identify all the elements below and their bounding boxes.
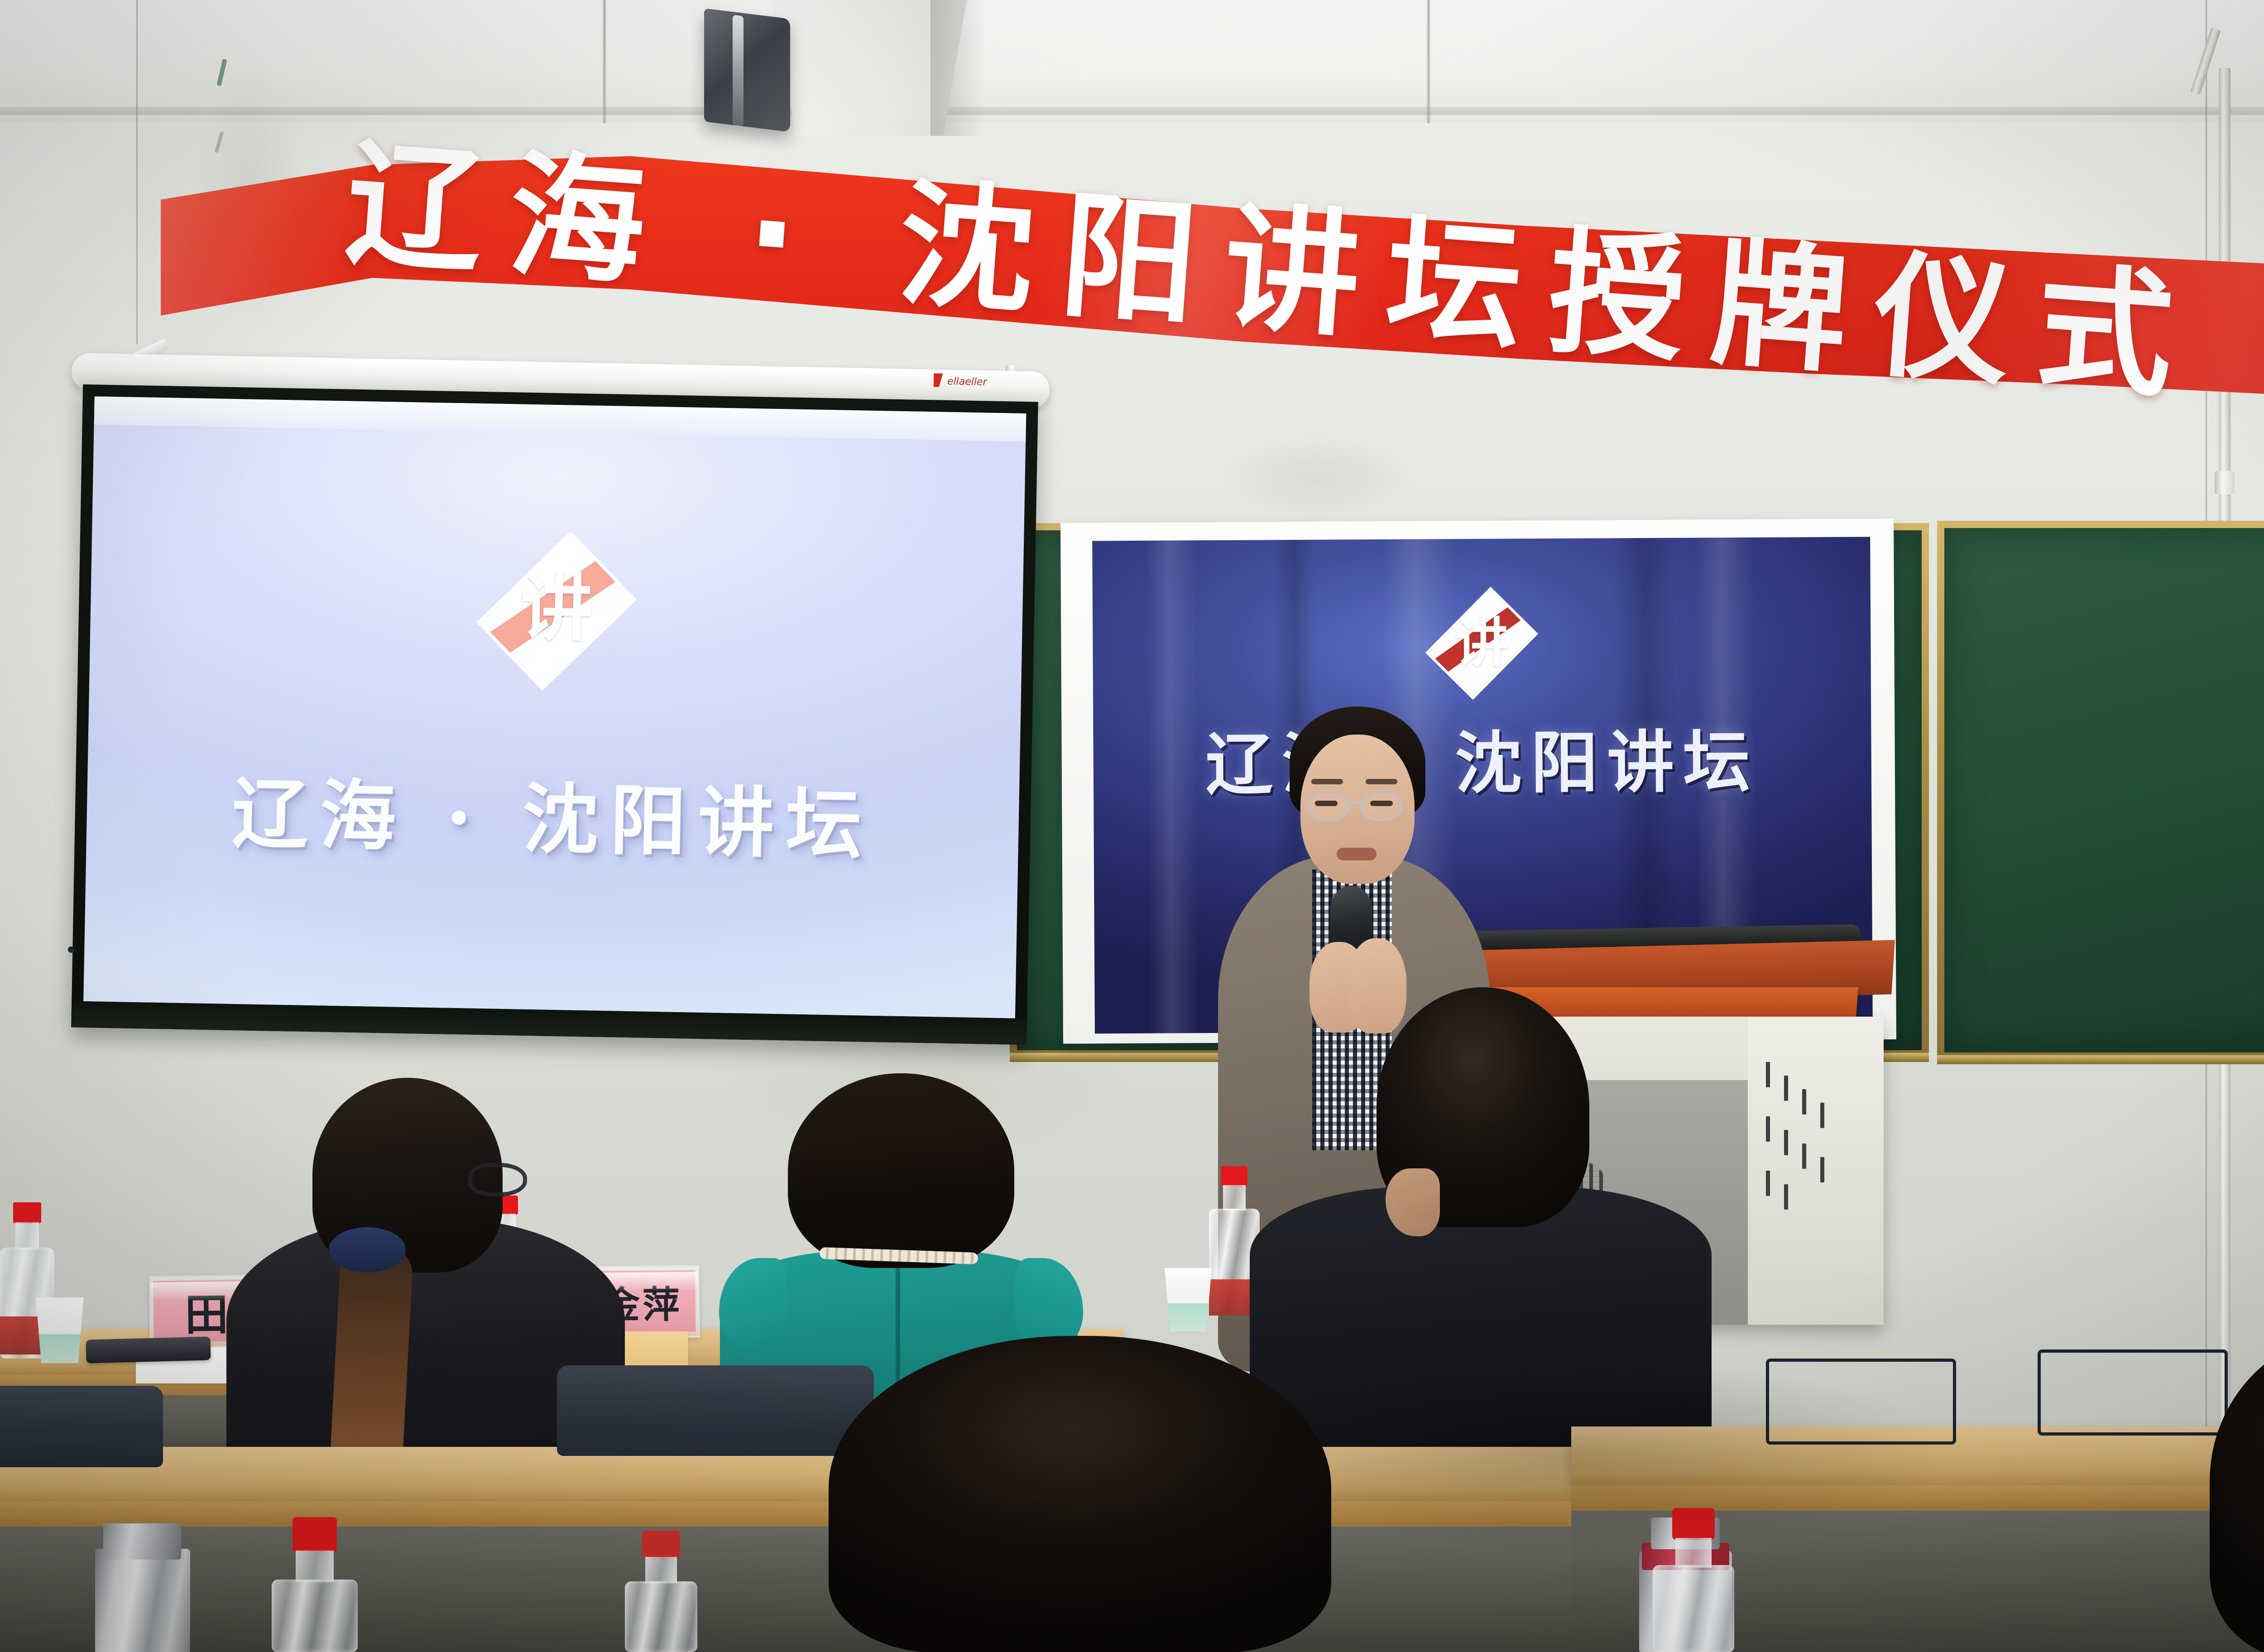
audience-hair: [788, 1073, 1014, 1268]
thermos-flask: [95, 1549, 190, 1652]
paper-cup: [1161, 1268, 1215, 1331]
glasses-bridge: [1349, 802, 1361, 804]
projection-screen-surface: 讲 辽海 · 沈阳讲坛: [83, 396, 1026, 1018]
smartphone[interactable]: [86, 1336, 211, 1363]
thermos-cap: [103, 1523, 181, 1560]
forum-logo-glyph: 讲: [1445, 609, 1518, 677]
glasses-icon: [1359, 792, 1403, 821]
dress-shoulder-puff: [719, 1258, 787, 1349]
pipe-collar: [2215, 471, 2235, 495]
glasses-icon: [468, 1163, 527, 1196]
audience-hair: [2210, 1331, 2264, 1652]
ceiling-seam: [1426, 0, 1431, 123]
chair-frame[interactable]: [2038, 1349, 2228, 1436]
ceiling-beam: [0, 107, 2264, 115]
podium-floor-shadow: [1177, 1359, 1947, 1549]
dress-shoulder-puff: [1015, 1258, 1083, 1349]
paper-cup: [33, 1297, 87, 1363]
water-bottle: [625, 1531, 697, 1652]
projection-screen-frame: 讲 辽海 · 沈阳讲坛: [71, 384, 1038, 1045]
podium-right-wing: [1748, 1017, 1884, 1325]
chair[interactable]: [0, 1386, 163, 1467]
classroom-photo-scene: 辽海 · 沈阳讲坛授牌仪式 ellaeller 讲 辽海 · 沈阳讲坛: [0, 0, 2264, 1652]
chair-frame: [68, 946, 74, 953]
forum-logo-glyph: 讲: [506, 562, 607, 655]
glasses-icon: [1307, 792, 1350, 821]
screen-title-text: 辽海 · 沈阳讲坛: [86, 763, 1020, 875]
ceiling: [0, 0, 2264, 122]
soffit-shadow: [931, 0, 985, 136]
screen-brand-logo: ellaeller: [933, 371, 1010, 390]
wall-seam: [136, 0, 138, 344]
screen-top-band: [94, 396, 1026, 442]
chair[interactable]: [557, 1365, 874, 1456]
water-bottle: [272, 1517, 358, 1652]
hair-scrunchie: [329, 1227, 406, 1273]
chalkboard-right: [1937, 521, 2264, 1060]
wall-stain: [1223, 435, 1413, 521]
chalkboard-rail-right: [1937, 1055, 2264, 1064]
audience-person-right-foreground: [2210, 1331, 2264, 1652]
svg-text:ellaeller: ellaeller: [947, 376, 988, 388]
